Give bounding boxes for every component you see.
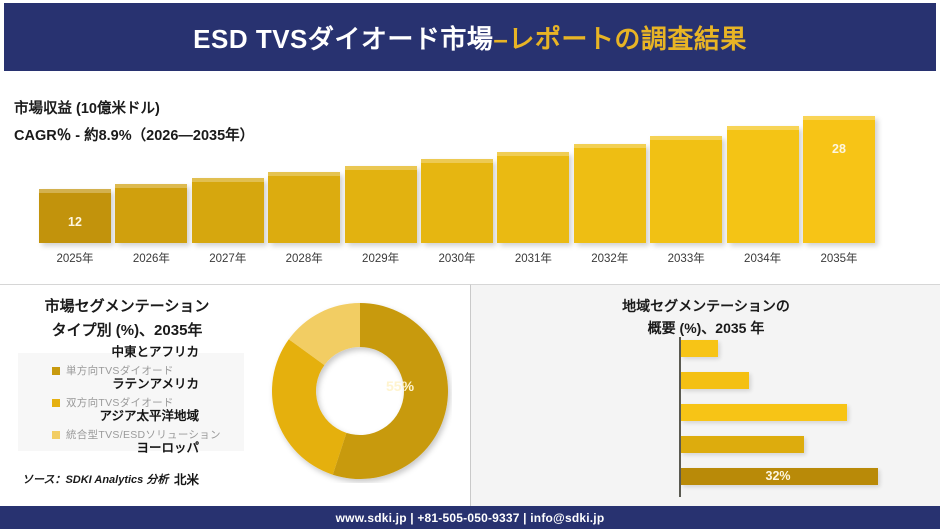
- revenue-bar-group: 28: [803, 107, 875, 243]
- legend-swatch-icon: [52, 399, 60, 407]
- revenue-bar-x-label: 2028年: [268, 250, 340, 266]
- regional-bar-group: アジア太平洋地域: [471, 401, 940, 427]
- regional-bar-group: 北米32%: [471, 465, 940, 491]
- revenue-bar-value-label: 28: [803, 142, 875, 156]
- revenue-bar-x-label: 2030年: [421, 250, 493, 266]
- revenue-bar-group: [574, 107, 646, 243]
- revenue-bar-group: [345, 107, 417, 243]
- revenue-bar: [574, 144, 646, 243]
- regional-bar-group: ヨーロッパ: [471, 433, 940, 459]
- donut-slice: [272, 339, 346, 474]
- segmentation-donut-chart: 55%: [268, 299, 452, 483]
- regional-bar-label: 中東とアフリカ: [111, 341, 199, 360]
- revenue-bar-group: [115, 107, 187, 243]
- segmentation-title-line1: 市場セグメンテーション: [8, 295, 246, 319]
- revenue-bar-x-label: 2032年: [574, 250, 646, 266]
- regional-bar-group: 中東とアフリカ: [471, 337, 940, 363]
- revenue-bar: 28: [803, 116, 875, 243]
- revenue-bar: [268, 172, 340, 243]
- revenue-bar-group: [727, 107, 799, 243]
- page-title-accent: –レポートの調査結果: [493, 24, 746, 54]
- revenue-bar-x-label: 2035年: [803, 250, 875, 266]
- revenue-bar-x-label: 2029年: [345, 250, 417, 266]
- regional-bar: [681, 340, 718, 357]
- revenue-bar-x-label: 2034年: [727, 250, 799, 266]
- regional-segmentation-panel: 地域セグメンテーションの 概要 (%)、2035 年 中東とアフリカラテンアメリ…: [470, 284, 940, 506]
- regional-title: 地域セグメンテーションの 概要 (%)、2035 年: [471, 295, 940, 339]
- market-segmentation-panel: 市場セグメンテーション タイプ別 (%)、2035年 単方向TVSダイオード双方…: [0, 284, 470, 507]
- regional-title-line1: 地域セグメンテーションの: [471, 295, 940, 317]
- revenue-bar-highlight: [803, 116, 875, 120]
- revenue-bar: [497, 152, 569, 243]
- revenue-bar-highlight: [115, 184, 187, 188]
- revenue-bar-x-label: 2026年: [115, 250, 187, 266]
- donut-center-percent: 55%: [386, 378, 414, 394]
- revenue-bar: [345, 166, 417, 243]
- revenue-bar-highlight: [497, 152, 569, 156]
- revenue-bar-x-label: 2027年: [192, 250, 264, 266]
- revenue-bar-x-label: 2033年: [650, 250, 722, 266]
- revenue-bar: [421, 159, 493, 243]
- revenue-bar-group: [421, 107, 493, 243]
- market-revenue-chart-panel: 市場収益 (10億米ドル) CAGR％ - 約8.9%（2026―2035年） …: [0, 76, 940, 282]
- regional-bar: [681, 404, 847, 421]
- revenue-bar-x-label: 2031年: [497, 250, 569, 266]
- revenue-bar: [115, 184, 187, 243]
- footer-contact-text: www.sdki.jp | +81-505-050-9337 | info@sd…: [336, 511, 605, 525]
- page-title: ESD TVSダイオード市場–レポートの調査結果: [193, 19, 747, 56]
- revenue-bar-highlight: [574, 144, 646, 148]
- regional-bar-group: ラテンアメリカ: [471, 369, 940, 395]
- segmentation-legend: 単方向TVSダイオード双方向TVSダイオード統合型TVS/ESDソリューション: [18, 353, 244, 451]
- regional-bar: [681, 372, 749, 389]
- donut-svg: [268, 299, 452, 483]
- revenue-bar-group: [497, 107, 569, 243]
- legend-swatch-icon: [52, 367, 60, 375]
- revenue-bar-highlight: [268, 172, 340, 176]
- revenue-bar-group: [268, 107, 340, 243]
- revenue-bar: [192, 178, 264, 243]
- regional-bar-value-label: 32%: [766, 469, 791, 483]
- page-title-main: ESD TVSダイオード市場: [193, 24, 493, 54]
- revenue-bar-group: [650, 107, 722, 243]
- revenue-bar-group: [192, 107, 264, 243]
- regional-title-line2: 概要 (%)、2035 年: [471, 317, 940, 339]
- source-note: ソース：SDKI Analytics 分析: [22, 471, 168, 487]
- revenue-bar: 12: [39, 189, 111, 243]
- page-header-band: ESD TVSダイオード市場–レポートの調査結果: [4, 3, 936, 71]
- segmentation-title-line2: タイプ別 (%)、2035年: [8, 319, 246, 343]
- regional-bar-label: ラテンアメリカ: [112, 373, 199, 392]
- revenue-bar-highlight: [39, 189, 111, 193]
- segmentation-title: 市場セグメンテーション タイプ別 (%)、2035年: [8, 295, 246, 343]
- revenue-bar: [727, 126, 799, 243]
- revenue-bar-value-label: 12: [39, 215, 111, 229]
- regional-bar-label: アジア太平洋地域: [99, 405, 199, 424]
- revenue-bars-area: 122025年2026年2027年2028年2029年2030年2031年203…: [0, 76, 940, 282]
- revenue-bar-x-label: 2025年: [39, 250, 111, 266]
- bottom-region: 市場セグメンテーション タイプ別 (%)、2035年 単方向TVSダイオード双方…: [0, 284, 940, 506]
- revenue-bar-highlight: [650, 136, 722, 140]
- legend-swatch-icon: [52, 431, 60, 439]
- revenue-bar: [650, 136, 722, 243]
- revenue-bar-highlight: [192, 178, 264, 182]
- regional-bar-label: 北米: [174, 469, 199, 488]
- revenue-bar-group: 12: [39, 107, 111, 243]
- regional-bar-label: ヨーロッパ: [136, 437, 199, 456]
- revenue-bar-highlight: [345, 166, 417, 170]
- page-footer-band: www.sdki.jp | +81-505-050-9337 | info@sd…: [0, 506, 940, 529]
- revenue-bar-highlight: [421, 159, 493, 163]
- revenue-bar-highlight: [727, 126, 799, 130]
- regional-bar: [681, 436, 804, 453]
